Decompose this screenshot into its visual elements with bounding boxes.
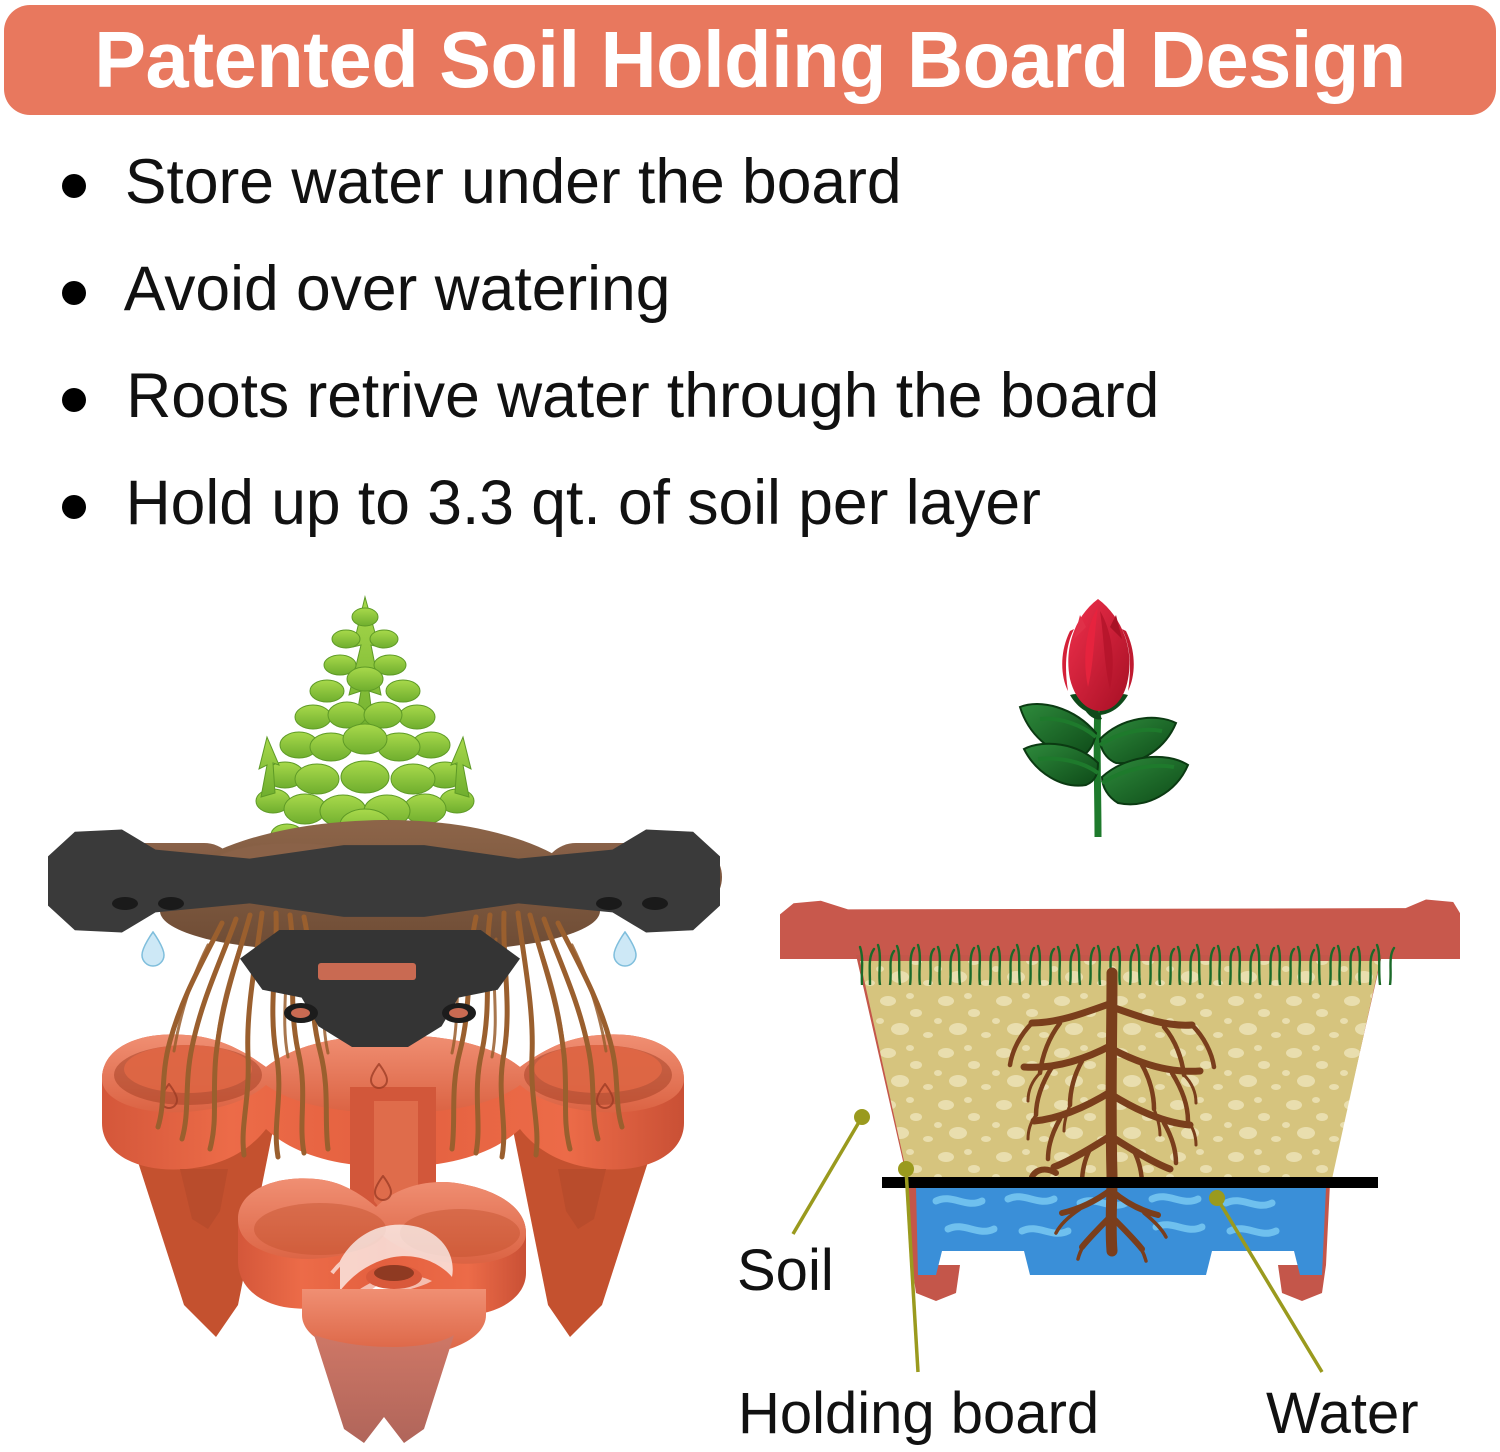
bullet-dot-icon: [62, 281, 86, 305]
stacking-planter-photo: [40, 575, 740, 1447]
water-droplet-icon: [140, 931, 166, 967]
board-hole-icon: [442, 1003, 476, 1023]
board-hole-icon: [284, 1003, 318, 1023]
figures-row: [0, 575, 1500, 1447]
bullet-dot-icon: [62, 388, 86, 412]
bullet-text: Avoid over watering: [124, 257, 671, 321]
label-holding-board: Holding board: [738, 1385, 1099, 1443]
pot-cross-section-diagram: [760, 575, 1460, 1447]
list-item: Hold up to 3.3 qt. of soil per layer: [0, 471, 1500, 578]
list-item: Roots retrive water through the board: [0, 364, 1500, 471]
feature-bullet-list: Store water under the board Avoid over w…: [0, 150, 1500, 578]
bullet-text: Roots retrive water through the board: [126, 364, 1159, 428]
bullet-dot-icon: [62, 495, 86, 519]
label-water: Water: [1266, 1385, 1419, 1443]
label-soil: Soil: [737, 1242, 834, 1300]
list-item: Avoid over watering: [0, 257, 1500, 364]
bullet-text: Hold up to 3.3 qt. of soil per layer: [126, 471, 1041, 535]
page-title: Patented Soil Holding Board Design: [94, 20, 1405, 100]
bullet-dot-icon: [62, 174, 86, 198]
water-droplet-icon: [612, 931, 638, 967]
bullet-text: Store water under the board: [125, 150, 902, 214]
soil-holding-board: [882, 1177, 1378, 1188]
board-slot-icon: [318, 963, 416, 980]
header-banner: Patented Soil Holding Board Design: [4, 5, 1496, 115]
list-item: Store water under the board: [0, 150, 1500, 257]
plant-roots: [760, 575, 1460, 1447]
